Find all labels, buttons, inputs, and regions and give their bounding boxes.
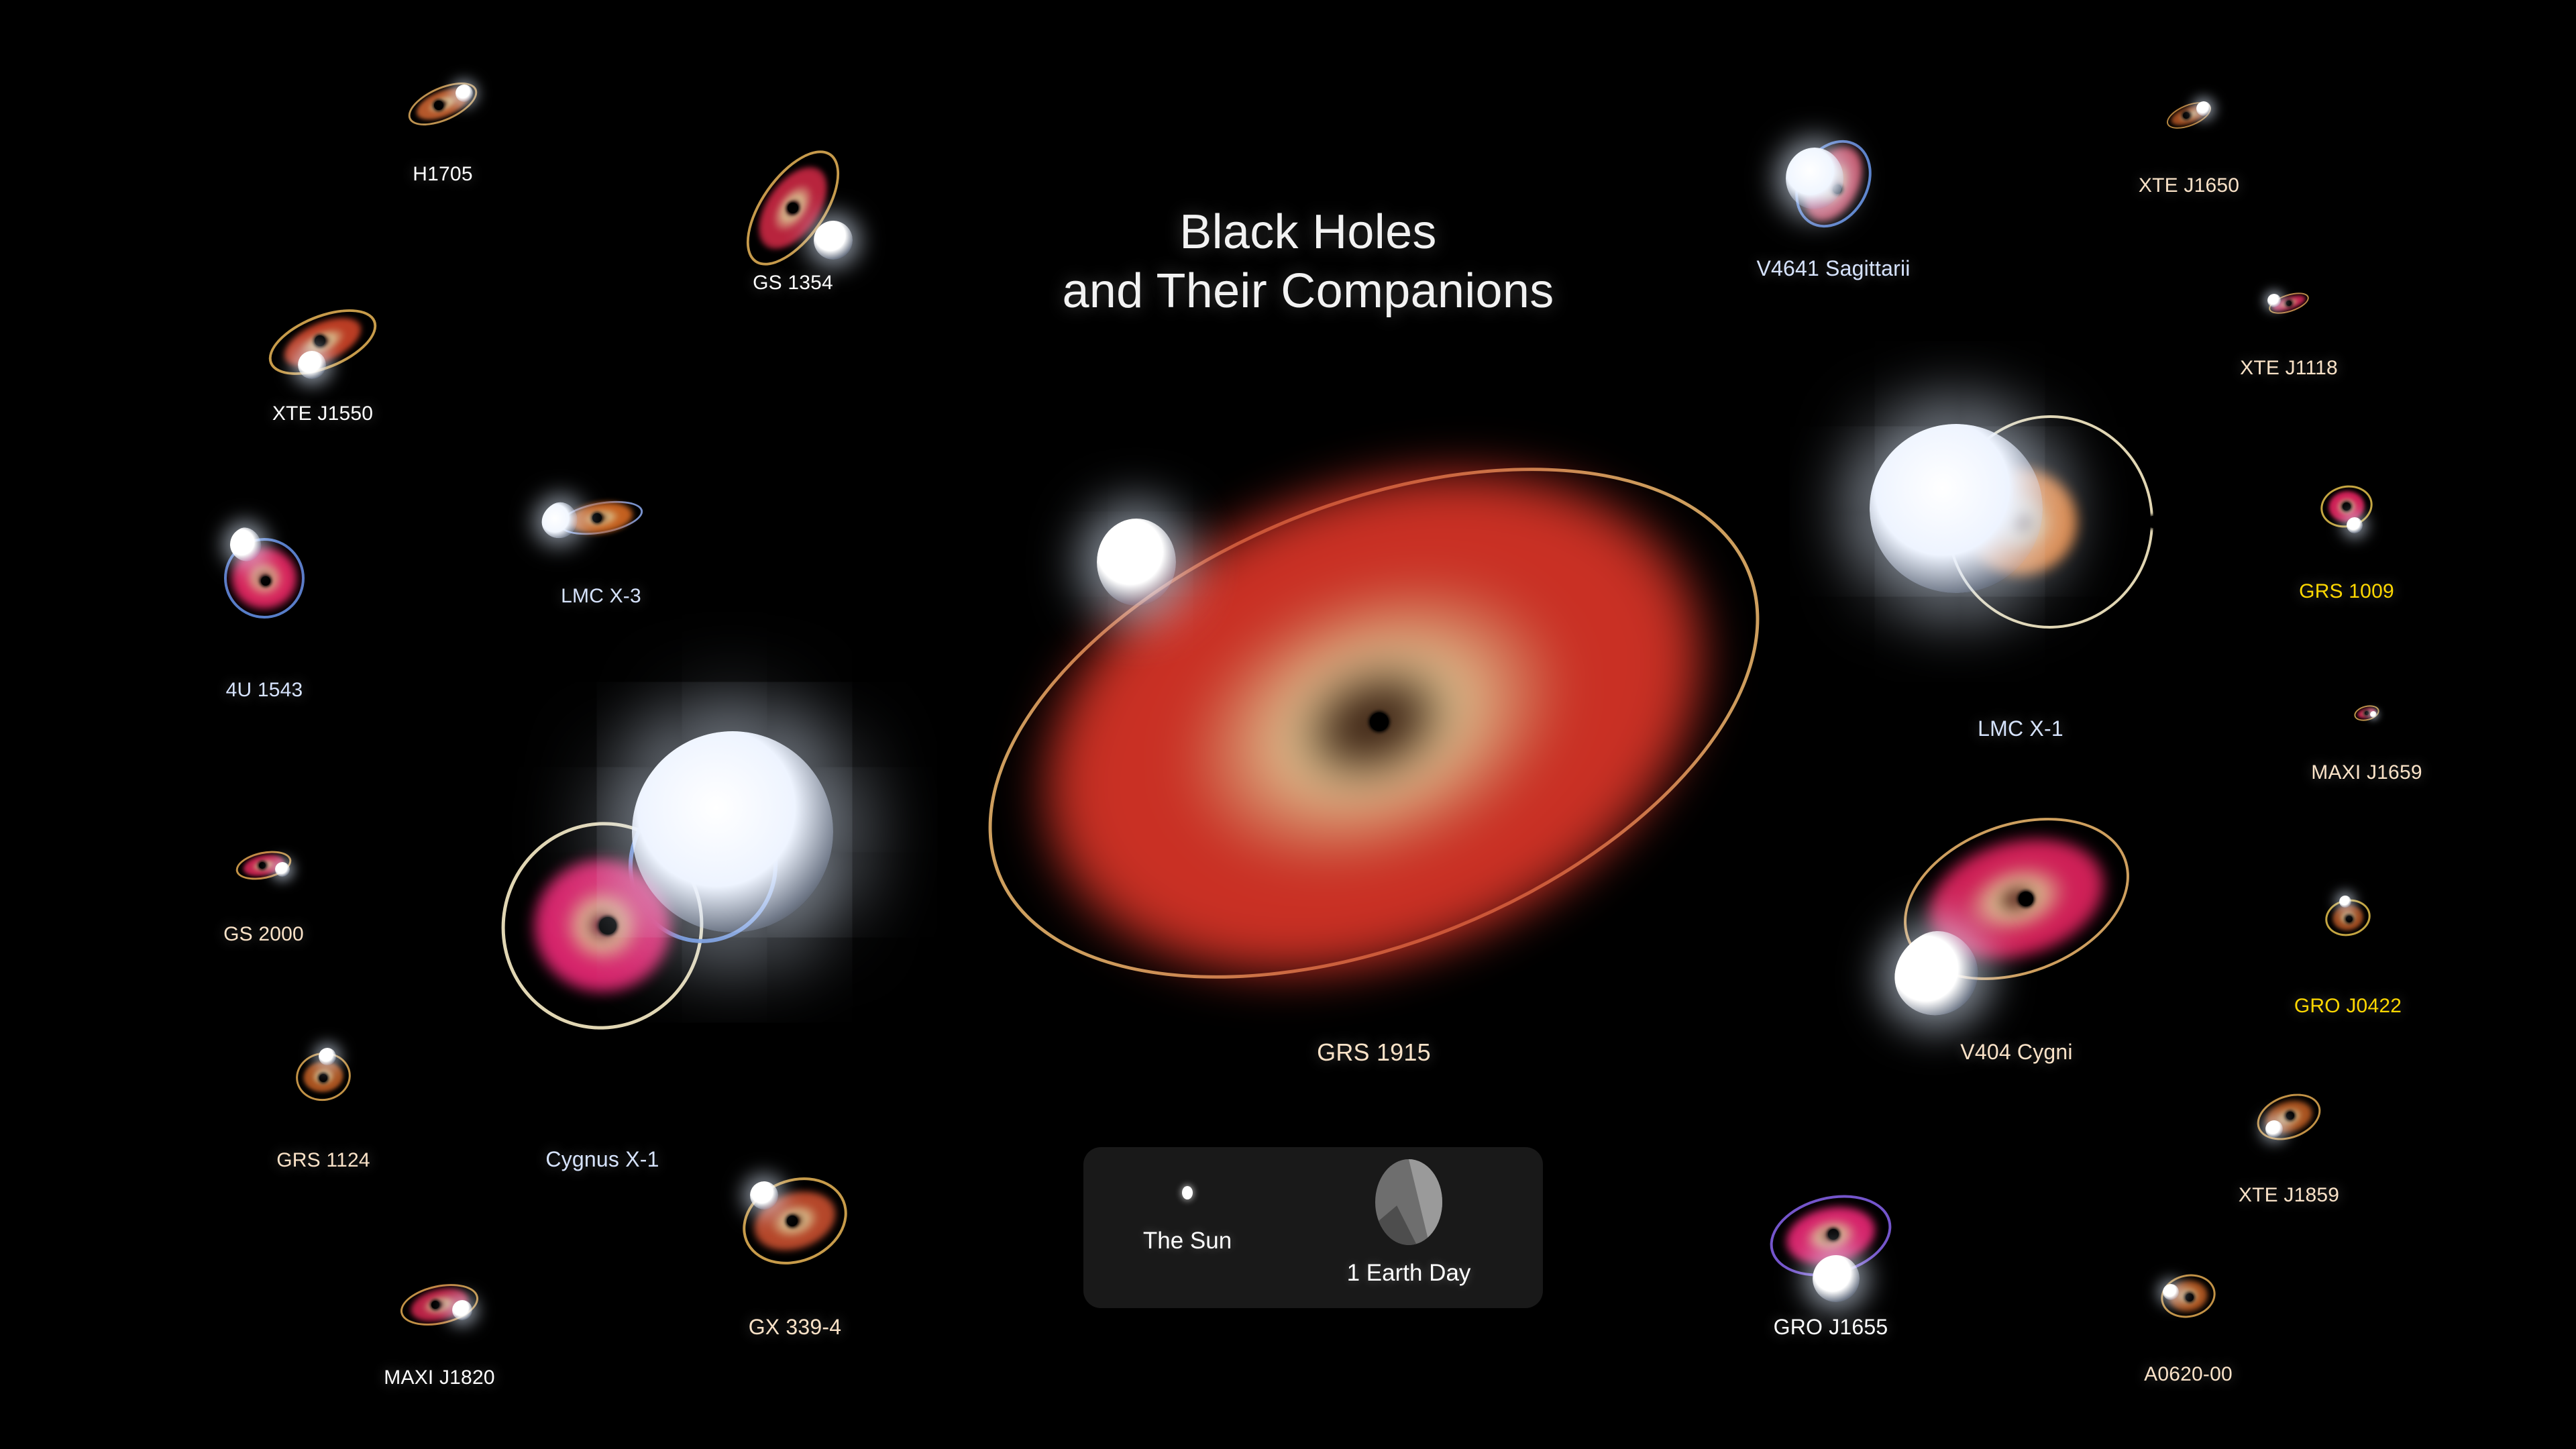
black-hole-core — [259, 862, 266, 869]
system-label: GRS 1124 — [276, 1149, 370, 1172]
system-label: LMC X-3 — [561, 585, 641, 608]
system-label: XTE J1859 — [2239, 1184, 2339, 1207]
black-hole-core — [2365, 711, 2369, 715]
black-hole-core — [1828, 1229, 1839, 1240]
companion-star — [1813, 1255, 1860, 1302]
black-hole-core — [592, 513, 602, 523]
legend-earth-day-label: 1 Earth Day — [1305, 1260, 1513, 1287]
companion-star — [275, 862, 290, 877]
companion-star — [1870, 424, 2043, 593]
system-label: XTE J1118 — [2240, 357, 2338, 380]
system-label: V404 Cygni — [1960, 1040, 2072, 1065]
legend-item-earth-day: 1 Earth Day — [1305, 1159, 1513, 1287]
black-hole-core — [2019, 892, 2033, 906]
system-label: 4U 1543 — [226, 679, 303, 702]
companion-star — [298, 351, 326, 379]
companion-star — [1097, 519, 1176, 606]
page-title: Black Holes and Their Companions — [1033, 203, 1583, 321]
companion-star — [2265, 1120, 2283, 1138]
black-hole-core — [261, 576, 270, 586]
companion-star — [632, 731, 833, 932]
black-hole-core — [2286, 301, 2292, 306]
system-label: GS 2000 — [223, 923, 304, 946]
companion-star — [2267, 294, 2281, 307]
system-label: GRS 1009 — [2299, 580, 2394, 603]
black-hole-core — [2147, 516, 2159, 528]
system-label: A0620-00 — [2144, 1363, 2233, 1386]
black-hole-core — [2183, 112, 2190, 119]
companion-star — [750, 1181, 778, 1210]
system-label: XTE J1650 — [2139, 174, 2239, 197]
black-hole-core — [431, 1301, 439, 1309]
starfield-canvas: Black Holes and Their Companions H1705GS… — [0, 0, 2576, 1449]
system-label: MAXI J1820 — [384, 1366, 494, 1389]
scale-legend-panel: The Sun 1 Earth Day — [1083, 1147, 1543, 1308]
black-hole-core — [2346, 916, 2353, 922]
sun-dot-icon — [1182, 1186, 1193, 1199]
system-label: XTE J1550 — [272, 402, 373, 425]
system-label: LMC X-1 — [1978, 716, 2063, 741]
black-hole-core — [787, 1216, 798, 1226]
system-label: GX 339-4 — [749, 1315, 842, 1340]
black-hole-core — [434, 101, 443, 110]
black-hole-core — [315, 335, 325, 346]
system-label: GS 1354 — [753, 272, 833, 294]
system-label: MAXI J1659 — [2311, 761, 2422, 784]
legend-item-sun: The Sun — [1083, 1186, 1291, 1254]
legend-sun-label: The Sun — [1083, 1228, 1291, 1254]
companion-star — [319, 1048, 336, 1065]
system-label: GRS 1915 — [1317, 1038, 1431, 1067]
companion-star — [455, 85, 473, 102]
companion-star — [535, 496, 584, 544]
earth-day-disc-icon — [1375, 1159, 1442, 1245]
companion-star — [2347, 517, 2363, 533]
black-hole-core — [2343, 502, 2351, 511]
earth-day-wedge — [1409, 1159, 1442, 1245]
companion-star — [2196, 101, 2211, 116]
earth-day-shadow — [1375, 1205, 1417, 1245]
black-hole-core — [2286, 1112, 2294, 1120]
companion-star — [814, 221, 853, 260]
companion-star — [2339, 896, 2351, 908]
system-label: GRO J0422 — [2294, 995, 2402, 1018]
companion-star — [452, 1300, 472, 1320]
system-label: Cygnus X-1 — [545, 1147, 659, 1172]
black-hole-core — [319, 1074, 327, 1082]
system-label: V4641 Sagittarii — [1756, 256, 1910, 281]
black-hole-core — [599, 917, 616, 934]
system-label: H1705 — [413, 163, 472, 186]
companion-star — [2163, 1284, 2179, 1300]
companion-star — [1786, 148, 1843, 209]
black-hole-core — [788, 203, 798, 213]
companion-star — [2370, 711, 2377, 718]
black-hole-core — [1370, 712, 1389, 731]
black-hole-core — [2186, 1293, 2194, 1301]
system-label: GRO J1655 — [1774, 1315, 1888, 1340]
